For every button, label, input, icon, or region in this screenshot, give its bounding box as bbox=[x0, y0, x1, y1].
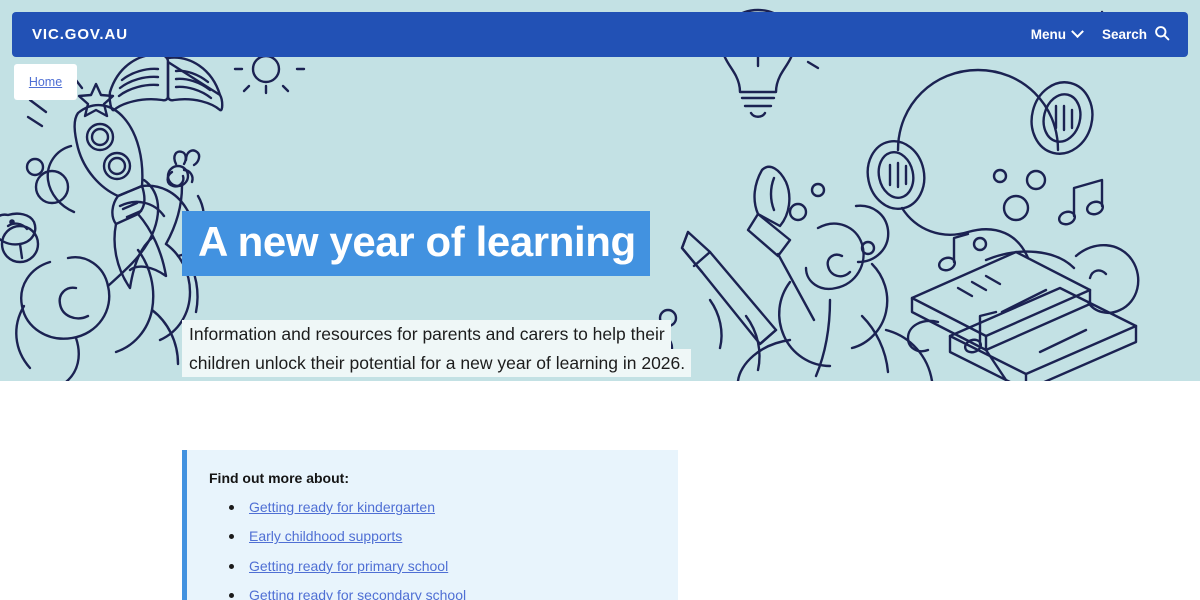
list-item: Early childhood supports bbox=[249, 529, 654, 544]
list-item: Getting ready for kindergarten bbox=[249, 500, 654, 515]
page-root: VIC.GOV.AU Menu Search bbox=[0, 0, 1200, 600]
bird-icon bbox=[0, 214, 35, 258]
find-out-more-box: Find out more about: Getting ready for k… bbox=[182, 450, 678, 600]
top-navbar: VIC.GOV.AU Menu Search bbox=[12, 12, 1188, 57]
search-button[interactable]: Search bbox=[1102, 25, 1170, 44]
book-icon bbox=[110, 55, 223, 111]
hero-text-block: A new year of learning Information and r… bbox=[182, 183, 691, 377]
search-icon bbox=[1154, 25, 1170, 44]
search-label: Search bbox=[1102, 27, 1147, 42]
page-title: A new year of learning bbox=[182, 211, 650, 276]
find-out-more-list: Getting ready for kindergarten Early chi… bbox=[209, 500, 654, 600]
hero-banner: VIC.GOV.AU Menu Search bbox=[0, 0, 1200, 381]
chevron-down-icon bbox=[1071, 25, 1084, 38]
hero-illustration-right bbox=[650, 0, 1200, 381]
link-getting-ready-primary-school[interactable]: Getting ready for primary school bbox=[249, 558, 448, 574]
link-early-childhood-supports[interactable]: Early childhood supports bbox=[249, 528, 402, 544]
menu-label: Menu bbox=[1031, 27, 1066, 42]
breadcrumb-item-home[interactable]: Home bbox=[29, 75, 62, 89]
stacked-books-icon bbox=[908, 245, 1138, 381]
list-item: Getting ready for secondary school bbox=[249, 588, 654, 600]
pencil-icon bbox=[682, 232, 776, 344]
hero-subtitle-line-1: Information and resources for parents an… bbox=[182, 320, 671, 349]
star-icon bbox=[79, 84, 113, 116]
hero-subtitle: Information and resources for parents an… bbox=[182, 320, 691, 377]
dot-shapes bbox=[650, 170, 1045, 362]
music-note-icon bbox=[938, 180, 1105, 354]
plant-swirls bbox=[710, 206, 932, 381]
site-brand[interactable]: VIC.GOV.AU bbox=[32, 26, 128, 43]
breadcrumb: Home bbox=[14, 64, 77, 100]
link-getting-ready-secondary-school[interactable]: Getting ready for secondary school bbox=[249, 587, 466, 600]
list-item: Getting ready for primary school bbox=[249, 559, 654, 574]
hero-subtitle-line-2: children unlock their potential for a ne… bbox=[182, 349, 691, 378]
link-getting-ready-kindergarten[interactable]: Getting ready for kindergarten bbox=[249, 499, 435, 515]
bubble-shapes bbox=[2, 159, 68, 262]
swirl-shapes bbox=[16, 180, 197, 381]
rocket-icon bbox=[48, 105, 194, 288]
menu-button[interactable]: Menu bbox=[1031, 27, 1082, 42]
paintbrush-icon bbox=[748, 167, 814, 320]
find-out-more-title: Find out more about: bbox=[209, 470, 654, 486]
headphones-icon bbox=[862, 70, 1100, 258]
navbar-actions: Menu Search bbox=[1031, 25, 1170, 44]
